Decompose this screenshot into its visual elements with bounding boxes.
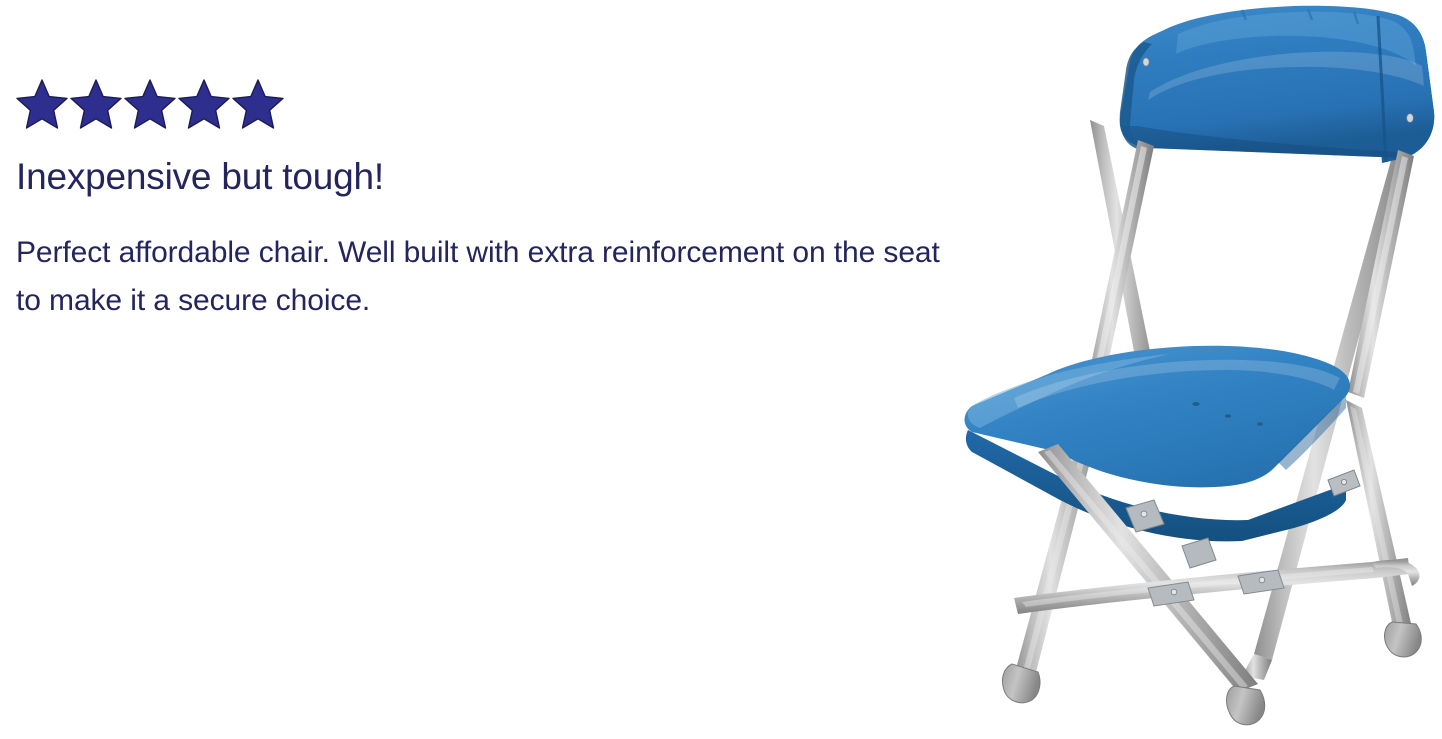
review-title: Inexpensive but tough! bbox=[16, 156, 976, 199]
review-body-text: Perfect affordable chair. Well built wit… bbox=[16, 229, 966, 325]
star-icon bbox=[232, 79, 284, 129]
star-icon bbox=[70, 79, 122, 129]
chair-seat bbox=[965, 346, 1361, 542]
chair-cross-brace bbox=[1014, 558, 1419, 614]
product-review-banner: Inexpensive but tough! Perfect affordabl… bbox=[0, 0, 1442, 739]
product-image-folding-chair bbox=[942, 0, 1442, 739]
star-icon bbox=[16, 79, 68, 129]
star-rating bbox=[16, 78, 976, 130]
star-icon bbox=[178, 79, 230, 129]
chair-backrest bbox=[1120, 6, 1435, 163]
star-icon bbox=[124, 79, 176, 129]
review-block: Inexpensive but tough! Perfect affordabl… bbox=[16, 78, 976, 325]
